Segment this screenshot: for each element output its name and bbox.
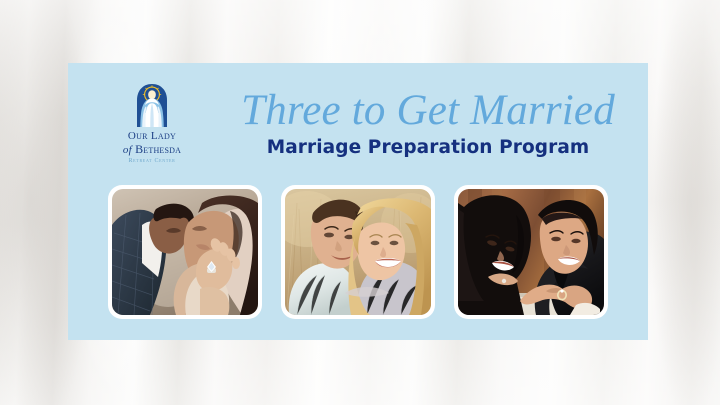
photo-1-frame <box>112 189 258 315</box>
photo-couple-ring <box>458 189 604 315</box>
banner-header: Our Lady of Bethesda Retreat Center Thre… <box>68 63 648 178</box>
logo-line-2-bethesda: Bethesda <box>135 142 181 156</box>
logo-wordmark: Our Lady of Bethesda Retreat Center <box>102 131 202 164</box>
logo-line-2: of Bethesda <box>102 143 202 156</box>
photo-card-3 <box>454 185 608 319</box>
photo-card-2 <box>281 185 435 319</box>
banner-title: Three to Get Married <box>218 89 638 134</box>
photo-couple-field <box>285 189 431 315</box>
photo-card-1 <box>108 185 262 319</box>
logo-line-3: Retreat Center <box>102 158 202 164</box>
banner-subtitle: Marriage Preparation Program <box>218 137 638 158</box>
photo-strip <box>68 185 648 325</box>
photo-2-frame <box>285 189 431 315</box>
promo-banner: Our Lady of Bethesda Retreat Center Thre… <box>68 63 648 340</box>
organization-logo: Our Lady of Bethesda Retreat Center <box>102 83 202 164</box>
our-lady-of-bethesda-madonna-logo-icon <box>135 83 169 129</box>
photo-3-frame <box>458 189 604 315</box>
logo-line-1: Our Lady <box>102 131 202 142</box>
logo-line-2-of: of <box>123 144 132 156</box>
banner-titles: Three to Get Married Marriage Preparatio… <box>218 89 638 158</box>
photo-couple-foreheads <box>112 189 258 315</box>
